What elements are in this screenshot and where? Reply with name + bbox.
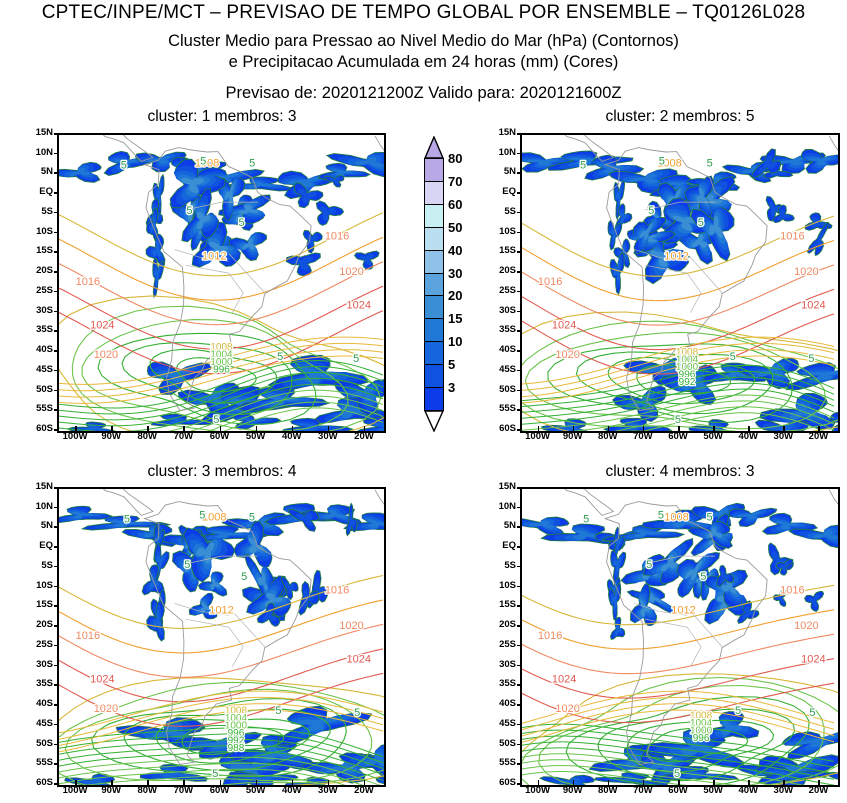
y-axis-tick-mark xyxy=(54,546,59,548)
map-panel-cluster-2[interactable]: 1008101210161020102410241020101610081004… xyxy=(520,133,840,433)
x-axis-tick-label: 100W xyxy=(518,786,558,796)
svg-text:5: 5 xyxy=(239,217,245,229)
x-axis-tick-mark xyxy=(608,780,610,785)
map-canvas: 1008101210161020102410241020101610081004… xyxy=(59,489,384,785)
y-axis-tick-mark xyxy=(54,783,59,785)
svg-text:5: 5 xyxy=(674,768,680,780)
svg-text:1024: 1024 xyxy=(90,673,114,685)
svg-text:1016: 1016 xyxy=(780,231,804,243)
y-axis-tick-label: 5N xyxy=(23,521,53,531)
y-axis-tick-label: 10N xyxy=(486,502,516,512)
y-axis-tick-mark xyxy=(517,172,522,174)
y-axis-tick-mark xyxy=(54,566,59,568)
svg-text:5: 5 xyxy=(249,512,255,524)
y-axis-tick-mark xyxy=(54,507,59,509)
forecast-run-line: Previsao de: 2020121200Z Valido para: 20… xyxy=(0,84,847,103)
x-axis-tick-mark xyxy=(783,780,785,785)
y-axis-tick-label: 15S xyxy=(486,246,516,256)
x-axis-tick-mark xyxy=(538,780,540,785)
colorbar-cap-low xyxy=(424,410,444,432)
y-axis-tick-mark xyxy=(517,390,522,392)
y-axis-tick-label: 10S xyxy=(486,227,516,237)
x-axis-tick-mark xyxy=(608,426,610,431)
colorbar-segment xyxy=(424,364,444,388)
y-axis-tick-label: 15S xyxy=(23,246,53,256)
svg-text:1016: 1016 xyxy=(538,276,562,288)
page-title: CPTEC/INPE/MCT – PREVISAO DE TEMPO GLOBA… xyxy=(0,2,847,24)
x-axis-tick-label: 90W xyxy=(91,432,131,442)
colorbar-tick-label: 30 xyxy=(448,266,462,281)
svg-text:5: 5 xyxy=(583,514,589,526)
x-axis-tick-label: 90W xyxy=(553,432,593,442)
y-axis-tick-label: EQ xyxy=(23,541,53,551)
svg-text:5: 5 xyxy=(735,705,741,717)
y-axis-tick-label: 60S xyxy=(23,778,53,788)
y-axis-tick-label: 25S xyxy=(486,286,516,296)
svg-text:1016: 1016 xyxy=(76,276,100,288)
svg-text:1008: 1008 xyxy=(195,158,219,170)
x-axis-tick-label: 50W xyxy=(693,786,733,796)
svg-text:5: 5 xyxy=(277,351,283,363)
x-axis-tick-mark xyxy=(75,426,77,431)
map-canvas: 1008101210161020102410241020101610081004… xyxy=(59,135,384,431)
y-axis-tick-label: 55S xyxy=(23,404,53,414)
y-axis-tick-mark xyxy=(517,704,522,706)
svg-text:1020: 1020 xyxy=(794,266,818,278)
y-axis-tick-label: 15S xyxy=(23,600,53,610)
y-axis-tick-mark xyxy=(517,684,522,686)
svg-text:1020: 1020 xyxy=(339,266,363,278)
x-axis-tick-mark xyxy=(220,426,222,431)
svg-text:5: 5 xyxy=(730,351,736,363)
y-axis-tick-label: 20S xyxy=(23,266,53,276)
x-axis-tick-mark xyxy=(783,426,785,431)
y-axis-tick-mark xyxy=(517,744,522,746)
x-axis-tick-mark xyxy=(147,426,149,431)
colorbar-tick-label: 10 xyxy=(448,334,462,349)
x-axis-tick-label: 100W xyxy=(55,786,95,796)
y-axis-tick-mark xyxy=(517,429,522,431)
colorbar-tick-label: 20 xyxy=(448,288,462,303)
svg-text:5: 5 xyxy=(707,158,713,170)
x-axis-tick-label: 40W xyxy=(728,432,768,442)
y-axis-tick-label: 5S xyxy=(23,207,53,217)
y-axis-tick-mark xyxy=(517,291,522,293)
y-axis-tick-mark xyxy=(517,212,522,214)
y-axis-tick-mark xyxy=(54,212,59,214)
panel-title-cluster-3: cluster: 3 membros: 4 xyxy=(57,463,387,481)
y-axis-tick-mark xyxy=(517,153,522,155)
svg-text:1016: 1016 xyxy=(76,630,100,642)
x-axis-tick-mark xyxy=(538,426,540,431)
y-axis-tick-mark xyxy=(54,350,59,352)
svg-text:1008: 1008 xyxy=(202,512,226,524)
x-axis-tick-label: 80W xyxy=(127,432,167,442)
colorbar-segment xyxy=(424,341,444,365)
y-axis-tick-mark xyxy=(517,192,522,194)
y-axis-tick-mark xyxy=(517,783,522,785)
svg-text:5: 5 xyxy=(659,156,665,168)
x-axis-tick-mark xyxy=(183,426,185,431)
colorbar-tick-label: 3 xyxy=(448,380,455,395)
y-axis-tick-label: EQ xyxy=(486,541,516,551)
x-axis-tick-label: 90W xyxy=(91,786,131,796)
svg-text:996: 996 xyxy=(693,733,710,744)
svg-text:1020: 1020 xyxy=(94,703,118,715)
x-axis-tick-label: 70W xyxy=(623,432,663,442)
x-axis-tick-label: 40W xyxy=(272,432,312,442)
x-axis-tick-label: 20W xyxy=(344,432,384,442)
colorbar-segment xyxy=(424,318,444,342)
map-panel-cluster-3[interactable]: 1008101210161020102410241020101610081004… xyxy=(57,487,386,787)
map-panel-cluster-4[interactable]: 1008101210161020102410241020101610081004… xyxy=(520,487,840,787)
y-axis-tick-label: 25S xyxy=(23,640,53,650)
svg-text:1020: 1020 xyxy=(555,349,579,361)
y-axis-tick-mark xyxy=(54,605,59,607)
y-axis-tick-label: 45S xyxy=(23,719,53,729)
y-axis-tick-mark xyxy=(54,645,59,647)
x-axis-tick-mark xyxy=(328,780,330,785)
x-axis-tick-label: 80W xyxy=(127,786,167,796)
panel-title-cluster-4: cluster: 4 membros: 3 xyxy=(520,463,840,481)
y-axis-tick-label: 10N xyxy=(23,148,53,158)
x-axis-tick-mark xyxy=(256,780,258,785)
y-axis-tick-label: 40S xyxy=(486,699,516,709)
panel-title-cluster-2: cluster: 2 membros: 5 xyxy=(520,108,840,126)
x-axis-tick-label: 30W xyxy=(763,786,803,796)
y-axis-tick-label: 30S xyxy=(486,306,516,316)
svg-text:996: 996 xyxy=(213,365,230,376)
x-axis-tick-mark xyxy=(292,780,294,785)
y-axis-tick-label: 15N xyxy=(486,128,516,138)
svg-text:5: 5 xyxy=(124,514,130,526)
svg-text:1024: 1024 xyxy=(552,319,576,331)
y-axis-tick-label: 30S xyxy=(23,306,53,316)
x-axis-tick-label: 100W xyxy=(518,432,558,442)
x-axis-tick-mark xyxy=(75,780,77,785)
x-axis-tick-label: 20W xyxy=(798,432,838,442)
y-axis-tick-label: 5S xyxy=(23,561,53,571)
svg-text:5: 5 xyxy=(213,414,219,426)
x-axis-tick-label: 60W xyxy=(200,786,240,796)
y-axis-tick-mark xyxy=(517,133,522,135)
svg-text:1024: 1024 xyxy=(801,300,825,312)
svg-text:5: 5 xyxy=(808,353,814,365)
y-axis-tick-label: 60S xyxy=(486,424,516,434)
y-axis-tick-mark xyxy=(517,487,522,489)
y-axis-tick-label: 45S xyxy=(23,365,53,375)
svg-text:5: 5 xyxy=(809,707,815,719)
y-axis-tick-mark xyxy=(517,251,522,253)
colorbar-segment xyxy=(424,273,444,297)
y-axis-tick-label: 20S xyxy=(23,620,53,630)
y-axis-tick-mark xyxy=(517,605,522,607)
y-axis-tick-mark xyxy=(517,507,522,509)
y-axis-tick-mark xyxy=(54,487,59,489)
y-axis-tick-label: 10S xyxy=(23,227,53,237)
svg-text:5: 5 xyxy=(199,510,205,522)
y-axis-tick-label: 35S xyxy=(486,679,516,689)
svg-text:1024: 1024 xyxy=(90,319,114,331)
precipitation-colorbar: 80706050403020151053 xyxy=(424,136,444,432)
x-axis-tick-mark xyxy=(364,780,366,785)
map-panel-cluster-1[interactable]: 1008101210161020102410241020101610081004… xyxy=(57,133,386,433)
x-axis-tick-mark xyxy=(818,780,820,785)
colorbar-segment xyxy=(424,387,444,411)
y-axis-tick-label: 55S xyxy=(486,758,516,768)
svg-text:5: 5 xyxy=(249,158,255,170)
colorbar-segment xyxy=(424,204,444,228)
svg-text:5: 5 xyxy=(184,559,190,571)
x-axis-tick-mark xyxy=(713,780,715,785)
y-axis-tick-label: 50S xyxy=(486,739,516,749)
x-axis-tick-label: 40W xyxy=(728,786,768,796)
y-axis-tick-label: 5S xyxy=(486,207,516,217)
svg-text:5: 5 xyxy=(186,205,192,217)
svg-text:5: 5 xyxy=(675,414,681,426)
x-axis-tick-label: 20W xyxy=(798,786,838,796)
colorbar-tick-label: 5 xyxy=(448,357,455,372)
y-axis-tick-label: 5N xyxy=(486,167,516,177)
x-axis-tick-label: 40W xyxy=(272,786,312,796)
colorbar-cap-high xyxy=(424,136,444,158)
y-axis-tick-label: 15N xyxy=(23,128,53,138)
x-axis-tick-label: 30W xyxy=(308,786,348,796)
svg-text:5: 5 xyxy=(212,768,218,780)
y-axis-tick-mark xyxy=(54,684,59,686)
svg-text:988: 988 xyxy=(228,743,245,754)
colorbar-tick-label: 80 xyxy=(448,151,462,166)
x-axis-tick-mark xyxy=(220,780,222,785)
x-axis-tick-mark xyxy=(748,780,750,785)
y-axis-tick-label: EQ xyxy=(23,187,53,197)
colorbar-tick-label: 60 xyxy=(448,197,462,212)
x-axis-tick-mark xyxy=(256,426,258,431)
y-axis-tick-mark xyxy=(517,763,522,765)
colorbar-tick-label: 15 xyxy=(448,311,462,326)
map-canvas: 1008101210161020102410241020101610081004… xyxy=(522,489,838,785)
svg-text:1016: 1016 xyxy=(325,585,349,597)
x-axis-tick-mark xyxy=(818,426,820,431)
svg-text:1012: 1012 xyxy=(664,250,688,262)
y-axis-tick-label: 40S xyxy=(23,345,53,355)
y-axis-tick-mark xyxy=(54,251,59,253)
y-axis-tick-label: 50S xyxy=(23,385,53,395)
y-axis-tick-label: 25S xyxy=(486,640,516,650)
x-axis-tick-label: 50W xyxy=(236,786,276,796)
y-axis-tick-mark xyxy=(517,409,522,411)
svg-text:992: 992 xyxy=(679,377,696,388)
x-axis-tick-mark xyxy=(643,426,645,431)
colorbar-segment xyxy=(424,158,444,182)
x-axis-tick-label: 60W xyxy=(658,786,698,796)
y-axis-tick-mark xyxy=(517,271,522,273)
x-axis-tick-label: 60W xyxy=(200,432,240,442)
subtitle-line-2: e Precipitacao Acumulada em 24 horas (mm… xyxy=(0,53,847,72)
y-axis-tick-mark xyxy=(54,370,59,372)
x-axis-tick-mark xyxy=(183,780,185,785)
y-axis-tick-mark xyxy=(517,625,522,627)
x-axis-tick-label: 20W xyxy=(344,786,384,796)
svg-text:5: 5 xyxy=(646,559,652,571)
y-axis-tick-label: 10N xyxy=(486,148,516,158)
y-axis-tick-label: 10S xyxy=(23,581,53,591)
svg-text:1008: 1008 xyxy=(664,512,688,524)
x-axis-tick-label: 80W xyxy=(588,786,628,796)
y-axis-tick-mark xyxy=(54,665,59,667)
y-axis-tick-label: 5N xyxy=(23,167,53,177)
y-axis-tick-mark xyxy=(517,330,522,332)
svg-text:5: 5 xyxy=(275,705,281,717)
svg-text:5: 5 xyxy=(200,156,206,168)
subtitle-line-1: Cluster Medio para Pressao ao Nivel Medi… xyxy=(0,32,847,51)
svg-text:5: 5 xyxy=(354,707,360,719)
y-axis-tick-mark xyxy=(517,645,522,647)
y-axis-tick-mark xyxy=(517,665,522,667)
colorbar-segment xyxy=(424,250,444,274)
y-axis-tick-mark xyxy=(54,429,59,431)
x-axis-tick-label: 70W xyxy=(163,432,203,442)
y-axis-tick-label: 45S xyxy=(486,719,516,729)
y-axis-tick-label: 50S xyxy=(23,739,53,749)
svg-text:5: 5 xyxy=(658,510,664,522)
x-axis-tick-mark xyxy=(328,426,330,431)
y-axis-tick-label: 45S xyxy=(486,365,516,375)
y-axis-tick-mark xyxy=(54,192,59,194)
svg-text:5: 5 xyxy=(700,571,706,583)
y-axis-tick-label: 5S xyxy=(486,561,516,571)
y-axis-tick-mark xyxy=(54,153,59,155)
x-axis-tick-mark xyxy=(292,426,294,431)
x-axis-tick-mark xyxy=(643,780,645,785)
y-axis-tick-mark xyxy=(517,311,522,313)
y-axis-tick-mark xyxy=(54,744,59,746)
y-axis-tick-label: 30S xyxy=(23,660,53,670)
y-axis-tick-mark xyxy=(54,172,59,174)
colorbar-segment xyxy=(424,227,444,251)
colorbar-segment xyxy=(424,295,444,319)
svg-text:1012: 1012 xyxy=(671,604,695,616)
y-axis-tick-label: 15S xyxy=(486,600,516,610)
y-axis-tick-label: 25S xyxy=(23,286,53,296)
svg-text:1016: 1016 xyxy=(325,231,349,243)
y-axis-tick-mark xyxy=(54,586,59,588)
y-axis-tick-mark xyxy=(54,133,59,135)
y-axis-tick-label: 55S xyxy=(486,404,516,414)
x-axis-tick-label: 100W xyxy=(55,432,95,442)
y-axis-tick-mark xyxy=(54,526,59,528)
x-axis-tick-label: 60W xyxy=(658,432,698,442)
y-axis-tick-mark xyxy=(54,704,59,706)
x-axis-tick-mark xyxy=(111,780,113,785)
y-axis-tick-label: 5N xyxy=(486,521,516,531)
x-axis-tick-mark xyxy=(713,426,715,431)
colorbar-tick-label: 70 xyxy=(448,174,462,189)
y-axis-tick-label: 30S xyxy=(486,660,516,670)
x-axis-tick-label: 30W xyxy=(763,432,803,442)
y-axis-tick-mark xyxy=(517,350,522,352)
x-axis-tick-label: 30W xyxy=(308,432,348,442)
x-axis-tick-label: 50W xyxy=(693,432,733,442)
y-axis-tick-label: 60S xyxy=(23,424,53,434)
x-axis-tick-label: 50W xyxy=(236,432,276,442)
y-axis-tick-mark xyxy=(517,370,522,372)
x-axis-tick-mark xyxy=(364,426,366,431)
y-axis-tick-mark xyxy=(54,271,59,273)
svg-text:1020: 1020 xyxy=(94,349,118,361)
svg-text:1016: 1016 xyxy=(538,630,562,642)
x-axis-tick-mark xyxy=(678,426,680,431)
panel-title-cluster-1: cluster: 1 membros: 3 xyxy=(57,108,387,126)
y-axis-tick-mark xyxy=(54,390,59,392)
x-axis-tick-mark xyxy=(111,426,113,431)
svg-text:5: 5 xyxy=(121,160,127,172)
y-axis-tick-label: EQ xyxy=(486,187,516,197)
svg-text:5: 5 xyxy=(353,353,359,365)
svg-text:5: 5 xyxy=(698,217,704,229)
y-axis-tick-mark xyxy=(54,311,59,313)
svg-text:5: 5 xyxy=(648,205,654,217)
x-axis-tick-label: 70W xyxy=(163,786,203,796)
y-axis-tick-label: 40S xyxy=(23,699,53,709)
x-axis-tick-mark xyxy=(748,426,750,431)
y-axis-tick-label: 15N xyxy=(486,482,516,492)
x-axis-tick-label: 80W xyxy=(588,432,628,442)
x-axis-tick-mark xyxy=(147,780,149,785)
svg-text:5: 5 xyxy=(241,571,247,583)
y-axis-tick-label: 60S xyxy=(486,778,516,788)
map-canvas: 1008101210161020102410241020101610081004… xyxy=(522,135,838,431)
svg-text:1016: 1016 xyxy=(780,585,804,597)
y-axis-tick-mark xyxy=(517,526,522,528)
y-axis-tick-label: 10S xyxy=(486,581,516,591)
y-axis-tick-mark xyxy=(517,724,522,726)
y-axis-tick-mark xyxy=(517,546,522,548)
x-axis-tick-label: 70W xyxy=(623,786,663,796)
svg-text:1012: 1012 xyxy=(209,604,233,616)
y-axis-tick-label: 55S xyxy=(23,758,53,768)
svg-text:1024: 1024 xyxy=(552,673,576,685)
svg-text:1024: 1024 xyxy=(801,654,825,666)
y-axis-tick-label: 20S xyxy=(486,620,516,630)
y-axis-tick-mark xyxy=(517,566,522,568)
y-axis-tick-label: 35S xyxy=(486,325,516,335)
colorbar-segment xyxy=(424,181,444,205)
y-axis-tick-mark xyxy=(517,232,522,234)
y-axis-tick-mark xyxy=(54,409,59,411)
svg-text:1020: 1020 xyxy=(555,703,579,715)
y-axis-tick-mark xyxy=(54,232,59,234)
y-axis-tick-mark xyxy=(54,625,59,627)
svg-text:5: 5 xyxy=(580,160,586,172)
svg-text:5: 5 xyxy=(707,512,713,524)
y-axis-tick-label: 35S xyxy=(23,679,53,689)
y-axis-tick-label: 20S xyxy=(486,266,516,276)
svg-text:1024: 1024 xyxy=(346,300,370,312)
y-axis-tick-mark xyxy=(54,724,59,726)
y-axis-tick-label: 15N xyxy=(23,482,53,492)
colorbar-tick-label: 50 xyxy=(448,220,462,235)
svg-text:1024: 1024 xyxy=(346,654,370,666)
x-axis-tick-mark xyxy=(678,780,680,785)
y-axis-tick-mark xyxy=(54,291,59,293)
svg-text:1020: 1020 xyxy=(794,620,818,632)
x-axis-tick-mark xyxy=(573,780,575,785)
y-axis-tick-mark xyxy=(54,763,59,765)
x-axis-tick-mark xyxy=(573,426,575,431)
y-axis-tick-mark xyxy=(54,330,59,332)
x-axis-tick-label: 90W xyxy=(553,786,593,796)
